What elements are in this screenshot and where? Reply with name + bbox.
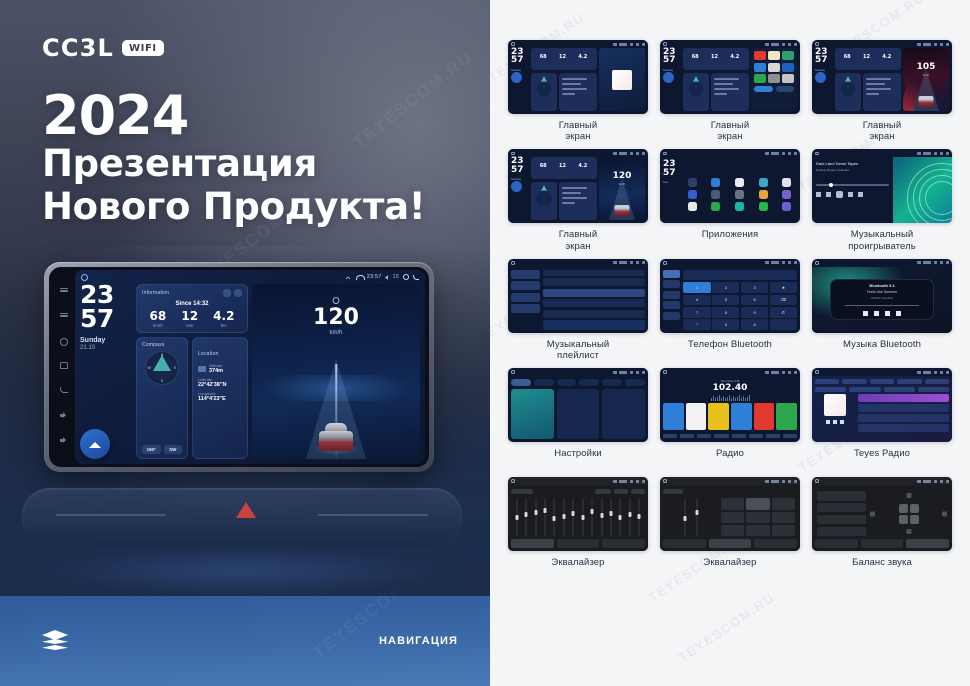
speed-value: 120 (313, 307, 359, 329)
volume-icon[interactable]: 15 (385, 274, 399, 280)
thumbnail-grid: 2357Sunday 68124.2 Главныйэкран (508, 40, 952, 579)
grid-item[interactable]: Эквалайзер (660, 477, 800, 579)
equalizer-bands[interactable] (511, 495, 645, 539)
thumbnail-bluetooth-music[interactable]: Bluetooth 5.1 Feels Like Summer Childish… (812, 259, 952, 333)
thumbnail-home-drive[interactable]: 2357Sunday 68124.2 120 km/h (508, 149, 648, 223)
compass-south: S (161, 379, 163, 383)
music-track-title: Dark Land Demo Tapes (816, 161, 889, 166)
compass-direction: SW (164, 445, 183, 454)
dial-key[interactable]: 2 (712, 282, 739, 293)
thumbnail-playlist[interactable] (508, 259, 648, 333)
thumbnail-caption: Настройки (554, 448, 601, 470)
repeat-icon[interactable] (858, 192, 863, 197)
mountain-icon (198, 366, 206, 372)
dial-key[interactable]: 9 (741, 307, 768, 318)
grid-item[interactable]: Shenzhen FM 102.40 (660, 368, 800, 470)
thumbnail-caption: Музыка Bluetooth (843, 339, 921, 361)
favorite-icon[interactable]: ★ (770, 282, 797, 293)
stat-unit: min (181, 323, 198, 328)
thumbnail-caption: Главныйэкран (559, 120, 598, 142)
album-cover (824, 394, 846, 416)
eject-button-icon[interactable] (60, 313, 69, 322)
mute-button-icon[interactable] (60, 288, 69, 297)
next-icon[interactable] (848, 192, 853, 197)
hazard-light-button[interactable] (224, 494, 268, 538)
dial-key[interactable]: 8 (712, 307, 739, 318)
compass-needle-icon (153, 355, 171, 371)
grid-item[interactable]: Эквалайзер (508, 477, 648, 579)
thumbnail-caption: Музыкальныйпроигрыватель (848, 229, 916, 251)
back-arrow-icon[interactable] (413, 275, 419, 280)
grid-item[interactable]: 2357Sun (660, 149, 800, 251)
volume-down-button-icon[interactable] (60, 437, 69, 446)
bt-track-title: Feels Like Summer (867, 290, 897, 294)
console-glow (42, 546, 442, 596)
gear-icon[interactable] (403, 274, 409, 280)
bluetooth-version-label: Bluetooth 5.1 (869, 283, 894, 288)
dial-key[interactable]: 1 (683, 282, 710, 293)
hero-panel: TEYESCOM.RU TEYESCOM.RU TEYESCOM.RU TEYE… (0, 0, 490, 686)
speed-limit-icon (333, 297, 340, 304)
balance-pad[interactable] (870, 491, 947, 536)
head-unit-device: 23:57 15 23 57 (44, 262, 434, 472)
dial-key[interactable]: 7 (683, 307, 710, 318)
car-dashboard: 23:57 15 23 57 (0, 246, 490, 596)
bt-artist: Childish Gambino (871, 296, 893, 300)
hero-year: 2024 (42, 88, 425, 143)
volume-level: 15 (392, 274, 399, 280)
stop-icon[interactable] (885, 311, 890, 316)
thumbnail-teyes-radio[interactable] (812, 368, 952, 442)
progress-bar[interactable] (816, 184, 889, 186)
thumbnail-caption: Эквалайзер (551, 557, 604, 579)
thumbnail-bluetooth-phone[interactable]: 1 2 3 ★ 4 5 6 ⌫ 7 8 9 ✆ (660, 259, 800, 333)
grid-item[interactable]: Bluetooth 5.1 Feels Like Summer Childish… (812, 259, 952, 361)
information-title: Information (142, 290, 169, 296)
thumbnail-caption: Главныйэкран (711, 120, 750, 142)
dial-key[interactable]: 6 (741, 295, 768, 306)
head-unit-screen[interactable]: 23:57 15 23 57 (75, 270, 425, 464)
carplay-tile[interactable] (557, 389, 600, 439)
thumbnail-caption: Баланс звука (852, 557, 912, 579)
latitude-value: 22°42'38"N (198, 382, 242, 388)
navigation-arrow-icon[interactable] (80, 429, 110, 459)
clock-widget: 23 57 Sunday 21.10 (80, 284, 132, 459)
bezel-button-strip[interactable] (53, 270, 75, 464)
trip-since-label: Since 14:32 (142, 301, 242, 307)
stop-icon[interactable] (833, 420, 837, 424)
status-bar: 23:57 15 (75, 270, 425, 284)
trip-stat: 68 km/h (150, 310, 167, 328)
logo-text: CC3L (42, 34, 114, 62)
compass-card[interactable]: Compass N S W E (136, 337, 188, 459)
grid-item[interactable]: 2357Sunday 68124.2 Главныйэкран (508, 40, 648, 142)
left-arrow-icon[interactable] (870, 511, 875, 516)
layers-icon (42, 630, 68, 652)
thumbnail-home-drive-red[interactable]: 2357Sunday 68124.2 105 km/h (812, 40, 952, 114)
right-arrow-icon[interactable] (942, 511, 947, 516)
dial-key[interactable]: 5 (712, 295, 739, 306)
hero-title-line2: Нового Продукта! (42, 186, 425, 229)
thumbnail-caption: Главныйэкран (559, 229, 598, 251)
presentation-page: TEYESCOM.RU TEYESCOM.RU TEYESCOM.RU TEYE… (0, 0, 970, 686)
thumbnail-radio[interactable]: Shenzhen FM 102.40 (660, 368, 800, 442)
dial-pad[interactable]: 1 2 3 ★ 4 5 6 ⌫ 7 8 9 ✆ (683, 282, 797, 330)
trip-stat: 12 min (181, 310, 198, 328)
previous-icon[interactable] (863, 311, 868, 316)
thumbnail-apps[interactable]: 2357Sun (660, 149, 800, 223)
more-tile[interactable] (602, 389, 645, 439)
up-arrow-icon[interactable] (906, 493, 911, 498)
thumbnail-settings[interactable] (508, 368, 648, 442)
thumbnail-sound-balance[interactable] (812, 477, 952, 551)
compass-west: W (148, 366, 151, 370)
thumb-speed: 120 (613, 171, 632, 181)
compass-heading: 180° (142, 445, 161, 454)
previous-icon[interactable] (826, 192, 831, 197)
stat-value: 12 (181, 310, 198, 322)
radio-frequency: 102.40 (663, 383, 797, 393)
product-logo: CC3L WIFI (42, 34, 164, 62)
speed-unit: km/h (329, 330, 342, 336)
page-title: 2024 Презентация Нового Продукта! (42, 88, 425, 229)
previous-icon[interactable] (826, 420, 830, 424)
longitude-value: 114°4'23"E (198, 396, 242, 402)
clock-day: Sunday (80, 337, 132, 344)
hero-footer: НАВИГАЦИЯ (42, 630, 458, 652)
refresh-mini-icon[interactable] (234, 289, 242, 297)
altitude-value: 374m (209, 368, 223, 374)
dial-key[interactable]: * (683, 319, 710, 330)
grid-item[interactable]: 2357Sunday 68124.2 105 km/h (812, 40, 952, 142)
thumbnail-home-apps[interactable]: 2357Sunday 68124.2 (660, 40, 800, 114)
dial-key[interactable]: 4 (683, 295, 710, 306)
stat-value: 68 (150, 310, 167, 322)
play-pause-icon[interactable] (874, 311, 879, 316)
down-arrow-icon[interactable] (906, 529, 911, 534)
location-title: Location (198, 351, 219, 357)
grid-item[interactable]: Музыкальныйплейлист (508, 259, 648, 361)
music-artist: Nobody Brakes Software (816, 168, 889, 172)
grid-item[interactable]: 2357Sunday 68124.2 120 km/h (508, 149, 648, 251)
thumbnail-caption: Радио (716, 448, 744, 470)
screenshot-grid-panel: TEYESCOM.RU TEYESCOM.RU TEYESCOM.RU TEYE… (490, 0, 970, 686)
wifi-badge: WIFI (122, 40, 164, 56)
call-icon[interactable]: ✆ (770, 307, 797, 318)
thumbnail-equalizer-sliders[interactable] (508, 477, 648, 551)
trip-stat: 4.2 km (213, 310, 234, 328)
navigation-label: НАВИГАЦИЯ (379, 635, 458, 647)
compass-north: N (161, 353, 164, 357)
next-icon[interactable] (840, 420, 844, 424)
wifi-icon (356, 274, 363, 280)
clock-date: 21.10 (80, 345, 132, 351)
thumbnail-caption: Телефон Bluetooth (688, 339, 772, 361)
grid-item[interactable]: Dark Land Demo Tapes Nobody Brakes Softw… (812, 149, 952, 251)
audio-visualizer (893, 157, 952, 223)
stat-unit: km/h (150, 323, 167, 328)
compass-title: Compass (142, 342, 182, 348)
wifi-tile[interactable] (511, 389, 554, 439)
volume-up-button-icon[interactable] (60, 412, 69, 421)
back-button-icon[interactable] (60, 387, 69, 396)
preset-buttons[interactable] (721, 498, 795, 536)
thumbnail-caption: Приложения (702, 229, 759, 251)
car-graphic (319, 421, 353, 451)
hero-title-line1: Презентация (42, 143, 425, 186)
seat-layout (899, 504, 919, 524)
grid-item[interactable]: Баланс звука (812, 477, 952, 579)
thumb-speed: 105 (917, 62, 936, 72)
grid-item[interactable]: Настройки (508, 368, 648, 470)
pause-icon[interactable] (836, 191, 843, 198)
stat-unit: km (213, 323, 234, 328)
watermark: TEYESCOM.RU (675, 590, 777, 666)
status-time: 23:57 (367, 274, 382, 280)
settings-mini-icon[interactable] (223, 289, 231, 297)
thumbnail-equalizer-presets[interactable] (660, 477, 800, 551)
progress-bar[interactable] (845, 305, 918, 306)
bass-treble-sliders[interactable] (665, 498, 717, 536)
thumbnail-caption: Музыкальныйплейлист (547, 339, 610, 361)
thumbnail-home-media[interactable]: 2357Sunday 68124.2 (508, 40, 648, 114)
grid-item[interactable]: 2357Sunday 68124.2 (660, 40, 800, 142)
thumbnail-caption: Эквалайзер (703, 557, 756, 579)
dial-key[interactable]: # (741, 319, 768, 330)
spacer (770, 319, 797, 330)
shuffle-icon[interactable] (816, 192, 821, 197)
dialer-display (683, 270, 797, 280)
thumbnail-caption: Главныйэкран (863, 120, 902, 142)
dial-key[interactable]: 3 (741, 282, 768, 293)
compass-east: E (174, 366, 176, 370)
thumbnail-caption: Teyes Радио (854, 448, 910, 470)
stat-value: 4.2 (213, 310, 234, 322)
compass-dial: N S W E (145, 351, 179, 385)
grid-item[interactable]: 1 2 3 ★ 4 5 6 ⌫ 7 8 9 ✆ (660, 259, 800, 361)
thumbnail-music-player[interactable]: Dark Land Demo Tapes Nobody Brakes Softw… (812, 149, 952, 223)
drive-widget[interactable]: 120 km/h (252, 284, 420, 459)
backspace-icon[interactable]: ⌫ (770, 295, 797, 306)
home-button-icon[interactable] (60, 362, 69, 371)
power-button-icon[interactable] (60, 338, 69, 347)
dial-key[interactable]: 0 (712, 319, 739, 330)
signal-icon (346, 274, 352, 280)
grid-item[interactable]: Teyes Радио (812, 368, 952, 470)
information-card[interactable]: Information Since 14:32 (136, 284, 248, 333)
location-card[interactable]: Location Altitude 374m (192, 337, 248, 459)
clock-minutes: 57 (80, 308, 132, 331)
next-icon[interactable] (896, 311, 901, 316)
